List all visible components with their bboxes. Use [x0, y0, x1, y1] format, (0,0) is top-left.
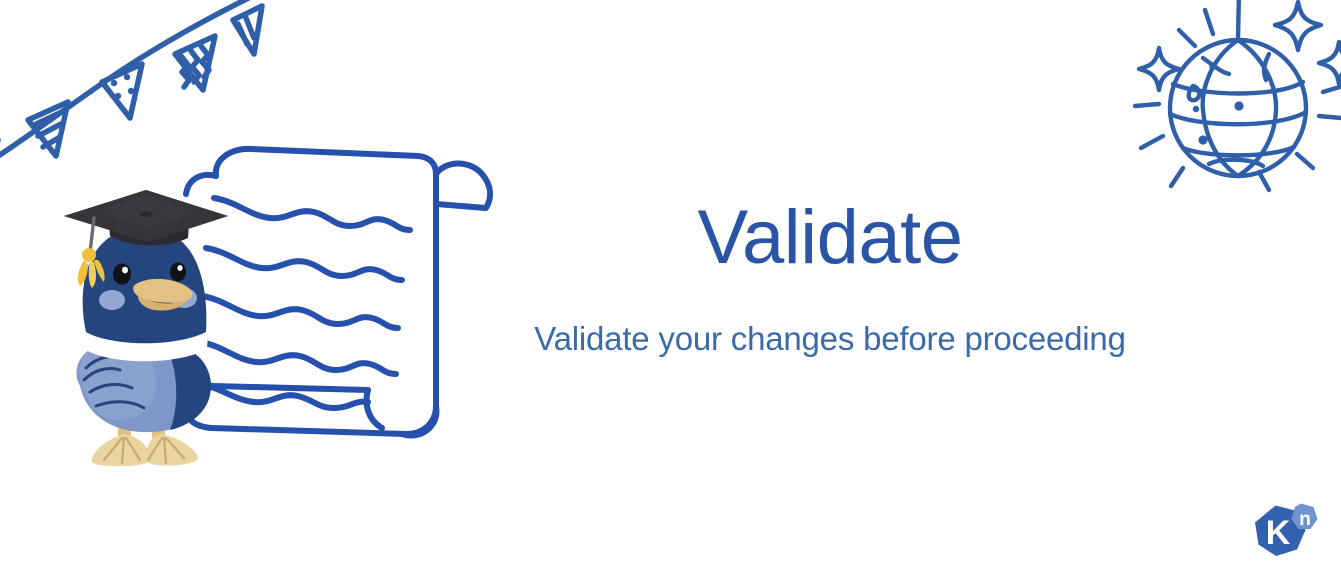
- disco-ball-icon: [1117, 0, 1341, 223]
- slide-text-block: Validate Validate your changes before pr…: [470, 200, 1190, 358]
- logo-letter-n: n: [1299, 509, 1311, 530]
- logo-letter-k: K: [1266, 514, 1291, 552]
- page-title: Validate: [470, 200, 1190, 276]
- mascot-bird-graduate-icon: [56, 186, 236, 471]
- page-subtitle: Validate your changes before proceeding: [470, 276, 1190, 358]
- graduate-bird-with-scroll-illustration: [48, 128, 468, 473]
- slide-canvas: Validate Validate your changes before pr…: [0, 0, 1341, 585]
- kn-brand-logo: K n: [1247, 499, 1323, 569]
